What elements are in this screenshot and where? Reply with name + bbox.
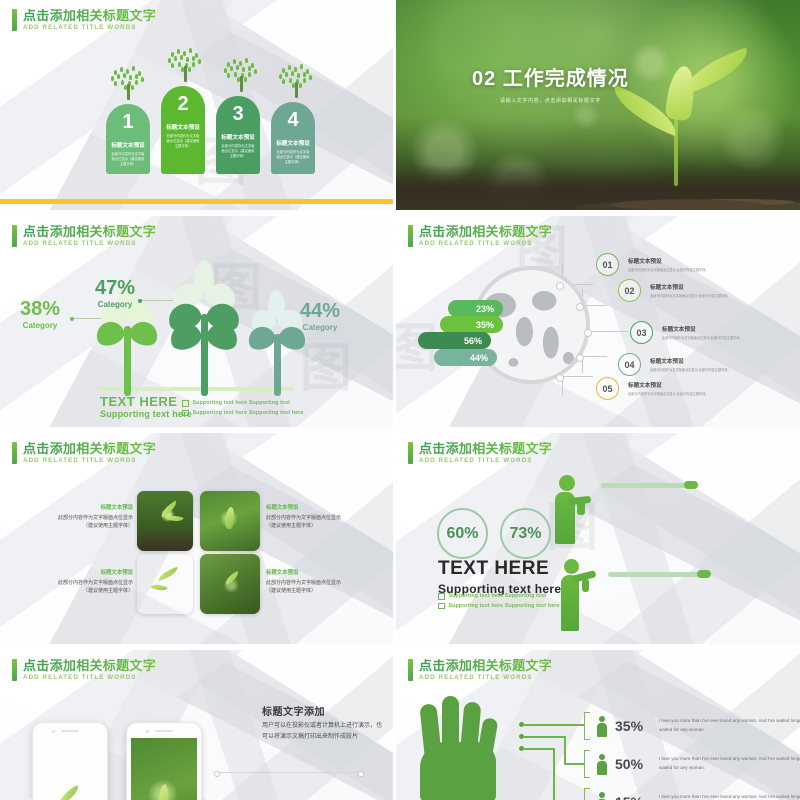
slide-6-subtitle: ADD RELATED TITLE WORDS — [419, 458, 552, 464]
photo-image — [137, 554, 193, 614]
item-number: 01 — [596, 253, 619, 276]
sprig-leaf — [223, 571, 241, 585]
slide-thumbnail-sheet: 图 点击添加相关标题文字 ADD RELATED TITLE WORDS — [0, 0, 800, 800]
numbered-card-1[interactable]: 1 标题文本预设 此部分内容作为文字版面点位显示（建议使用主题字体） — [106, 104, 150, 174]
slide-8-header: 点击添加相关标题文字 ADD RELATED TITLE WORDS — [408, 659, 552, 681]
slide-2-section-cover[interactable]: 02 工作完成情况 请输入文字内容，点击添加相关标题文字 — [396, 0, 800, 210]
link-line-2 — [524, 736, 566, 738]
globe-node-4 — [576, 354, 584, 362]
slide-5-header: 点击添加相关标题文字 ADD RELATED TITLE WORDS — [12, 442, 156, 464]
slide-4-header: 点击添加相关标题文字 ADD RELATED TITLE WORDS — [408, 225, 552, 247]
header-accent-bar — [12, 225, 17, 247]
link-line-2b — [564, 763, 584, 765]
photo-caption-4: 标题文本预设 此部分内容作为文字版面点位显示（建议使用主题字体） — [266, 568, 344, 595]
phone-speaker — [155, 730, 173, 732]
link-elbow-3 — [553, 748, 555, 800]
card-title: 标题文本预设 — [216, 133, 260, 141]
card-title: 标题文本预设 — [161, 123, 205, 131]
card-number: 3 — [216, 104, 260, 124]
slide-5-photo-grid[interactable]: 点击添加相关标题文字 ADD RELATED TITLE WORDS — [0, 433, 393, 644]
globe-node-1 — [556, 282, 564, 290]
item-number: 03 — [630, 321, 653, 344]
stat-value: 15% — [615, 794, 649, 800]
numbered-card-3[interactable]: 3 标题文本预设 此部分内容作为文字版面点位显示（建议使用主题字体） — [216, 96, 260, 174]
bracket-icon — [584, 788, 590, 800]
slide-5-title: 点击添加相关标题文字 — [23, 442, 156, 455]
person-body — [561, 575, 579, 631]
bar-56: 56% — [418, 332, 491, 349]
bracket-icon — [584, 712, 590, 740]
photo-image — [200, 491, 260, 551]
photo-thumb-2[interactable] — [200, 491, 260, 551]
item-title: 标题文本预设 — [662, 325, 743, 333]
tree-icon-3 — [219, 58, 263, 92]
connector-3 — [588, 331, 628, 332]
bullet-checkbox-icon — [438, 603, 445, 610]
sprig-leaf — [150, 581, 167, 594]
slide-7-subtitle: ADD RELATED TITLE WORDS — [23, 675, 156, 681]
bullet-list: Supporting text here Supporting text Sup… — [182, 400, 304, 419]
bar-23: 23% — [448, 300, 503, 317]
bullet-item: Supporting text here Supporting text her… — [182, 410, 304, 417]
text-here-heading: TEXT HERE — [100, 395, 192, 409]
numbered-card-2[interactable]: 2 标题文本预设 此部分内容作为文字版面点位显示（建议使用主题字体） — [161, 86, 205, 174]
stat-47: 47% Category — [95, 278, 135, 309]
caption-title: 标题文本预设 — [266, 503, 344, 511]
tree-trunk — [240, 76, 243, 92]
supporting-text: Supporting text here — [100, 409, 192, 419]
slide-1-header: 点击添加相关标题文字 ADD RELATED TITLE WORDS — [12, 9, 156, 31]
item-title: 标题文本预设 — [650, 357, 731, 365]
item-title: 标题文本预设 — [628, 381, 709, 389]
slide-8-hand-stats[interactable]: 点击添加相关标题文字 ADD RELATED TITLE WORDS 35% I… — [396, 650, 800, 800]
bullet-item: Supporting text here Supporting text — [182, 400, 304, 407]
spray-stream-1 — [601, 483, 691, 488]
screen-photo — [131, 738, 197, 800]
slide-3-header: 点击添加相关标题文字 ADD RELATED TITLE WORDS — [12, 225, 156, 247]
slide-4-subtitle: ADD RELATED TITLE WORDS — [419, 241, 552, 247]
slide-7-title: 点击添加相关标题文字 — [23, 659, 156, 672]
header-accent-bar — [12, 659, 17, 681]
stat-text: I love you more than I've ever loved any… — [659, 717, 800, 734]
slide-6-header: 点击添加相关标题文字 ADD RELATED TITLE WORDS — [408, 442, 552, 464]
caption-body: 此部分内容作为文字版面点位显示（建议使用主题字体） — [266, 579, 344, 595]
stat-text: I love you more than I've ever loved any… — [659, 755, 800, 772]
person-icon — [596, 754, 607, 775]
polygon-background — [0, 433, 393, 644]
globe-list-item-5[interactable]: 05 标题文本预设 此部分内容作为文字版面点位显示 此部分内容主题字体。 — [596, 377, 709, 400]
stat-row-2: 50% I love you more than I've ever loved… — [584, 750, 800, 778]
stat-category: Category — [20, 321, 60, 330]
slide-3-subtitle: ADD RELATED TITLE WORDS — [23, 241, 156, 247]
person-head — [564, 559, 579, 574]
link-line-1 — [524, 724, 584, 726]
bullet-checkbox-icon — [438, 593, 445, 600]
photo-thumb-1[interactable] — [137, 491, 193, 551]
card-body: 此部分内容作为文字版面点位显示（建议使用主题字体） — [111, 152, 145, 166]
phone-screen — [37, 738, 103, 800]
bar-44: 44% — [434, 349, 497, 366]
stat-category: Category — [95, 300, 135, 309]
footer-text-block: TEXT HERE Supporting text here — [100, 395, 192, 419]
bullet-item: Supporting text here Supporting text — [438, 593, 560, 600]
person-with-sprayer-1 — [551, 475, 597, 545]
stat-text: I love you more than I've ever loved any… — [659, 793, 800, 800]
photo-thumb-3[interactable] — [137, 554, 193, 614]
card-title: 标题文本预设 — [271, 139, 315, 147]
tree-icon-4 — [274, 64, 318, 98]
item-number: 02 — [618, 279, 641, 302]
photo-caption-2: 标题文本预设 此部分内容作为文字版面点位显示（建议使用主题字体） — [266, 503, 344, 530]
sprayer-handle — [582, 579, 589, 592]
phone-speaker — [61, 730, 79, 732]
stat-44: 44% Category — [300, 301, 340, 332]
ring-stat-60[interactable]: 60% — [437, 508, 488, 559]
item-number: 05 — [596, 377, 619, 400]
caption-title: 标题文本预设 — [266, 568, 344, 576]
sprig-leaf — [154, 784, 170, 800]
photo-caption-1: 标题文本预设 此部分内容作为文字版面点位显示（建议使用主题字体） — [55, 503, 133, 530]
photo-caption-3: 标题文本预设 此部分内容作为文字版面点位显示（建议使用主题字体） — [55, 568, 133, 595]
caption-body: 此部分内容作为文字版面点位显示（建议使用主题字体） — [55, 579, 133, 595]
header-accent-bar — [12, 442, 17, 464]
card-number: 4 — [271, 110, 315, 130]
slide-7-phone-mockups[interactable]: 点击添加相关标题文字 ADD RELATED TITLE WORDS — [0, 650, 393, 800]
hand-illustration — [406, 696, 522, 800]
header-accent-bar — [408, 225, 413, 247]
section-title-block: 02 工作完成情况 请输入文字内容，点击添加相关标题文字 — [472, 62, 629, 104]
ring-stat-73[interactable]: 73% — [500, 508, 551, 559]
person-with-sprayer-2 — [558, 559, 604, 631]
stat-row-1: 35% I love you more than I've ever loved… — [584, 712, 800, 740]
photo-image — [200, 554, 260, 614]
stat-category: Category — [300, 323, 340, 332]
numbered-card-group: 1 标题文本预设 此部分内容作为文字版面点位显示（建议使用主题字体） 2 标题文 — [98, 44, 328, 174]
bar-35: 35% — [440, 316, 503, 333]
globe-list-item-1[interactable]: 01 标题文本预设 此部分内容作为文字版面点位显示 此部分内容主题字体。 — [596, 253, 709, 276]
slide-7-heading: 标题文字添加 — [262, 703, 387, 718]
slide-1-subtitle: ADD RELATED TITLE WORDS — [23, 25, 156, 31]
person-icon — [596, 792, 607, 800]
slide-4-title: 点击添加相关标题文字 — [419, 225, 552, 238]
sprig-leaf — [225, 507, 235, 530]
phone-mockup-2[interactable] — [126, 722, 202, 800]
phone-camera — [52, 730, 55, 733]
yellow-divider-bar — [0, 199, 393, 204]
link-elbow-2 — [564, 736, 566, 764]
section-title: 02 工作完成情况 — [472, 62, 629, 91]
globe-list-item-3[interactable]: 03 标题文本预设 此部分内容作为文字版面点位显示 此部分内容主题字体。 — [630, 321, 743, 344]
item-body: 此部分内容作为文字版面点位显示 此部分内容主题字体。 — [662, 335, 743, 340]
phone-mockup-1[interactable] — [32, 722, 108, 800]
stat-value: 47% — [95, 278, 135, 298]
globe-node-3 — [584, 329, 592, 337]
slide-1-title: 点击添加相关标题文字 — [23, 9, 156, 22]
slide-8-title: 点击添加相关标题文字 — [419, 659, 552, 672]
slide-7-header: 点击添加相关标题文字 ADD RELATED TITLE WORDS — [12, 659, 156, 681]
wheat-stalk-3[interactable] — [248, 290, 306, 396]
link-line-3 — [524, 748, 554, 750]
phone-camera — [146, 730, 149, 733]
caption-body: 此部分内容作为文字版面点位显示（建议使用主题字体） — [266, 514, 344, 530]
slide-3-wheat-percentages[interactable]: 图 图 点击添加相关标题文字 ADD RELATED TITLE WORDS — [0, 216, 393, 427]
item-body: 此部分内容作为文字版面点位显示 此部分内容主题字体。 — [650, 367, 731, 372]
tree-icon-1 — [106, 66, 150, 100]
item-title: 标题文本预设 — [650, 283, 731, 291]
person-icon — [596, 716, 607, 737]
bullet-checkbox-icon — [182, 410, 189, 417]
caption-title: 标题文本预设 — [55, 503, 133, 511]
spray-nozzle-2 — [697, 570, 711, 578]
stat-row-3: 15% I love you more than I've ever loved… — [584, 788, 800, 800]
slide-3-title: 点击添加相关标题文字 — [23, 225, 156, 238]
spray-stream-2 — [608, 572, 704, 577]
slide-5-subtitle: ADD RELATED TITLE WORDS — [23, 458, 156, 464]
bullet-label: Supporting text here Supporting text her… — [193, 410, 304, 416]
slide-7-body: 用户可以在投影仪或者计算机上进行演示，也可以将演示文稿打印出来制作成胶片 — [262, 721, 387, 742]
divider-rule — [214, 772, 364, 773]
sprout-leaf-center — [664, 64, 697, 121]
sprig-leaf — [166, 512, 183, 524]
sprig-leaf — [156, 567, 179, 581]
stat-value: 38% — [20, 299, 60, 319]
section-subtitle: 请输入文字内容，点击添加相关标题文字 — [472, 97, 629, 104]
bullet-item: Supporting text here Supporting text her… — [438, 603, 560, 610]
screen-photo — [37, 738, 103, 800]
phone-screen — [131, 738, 197, 800]
wheat-stalk-2[interactable] — [168, 260, 240, 396]
sprout-stem — [674, 116, 678, 186]
card-number: 1 — [106, 112, 150, 132]
bullet-label: Supporting text here Supporting text — [193, 400, 291, 406]
item-number: 04 — [618, 353, 641, 376]
photo-image — [137, 491, 193, 551]
caption-title: 标题文本预设 — [55, 568, 133, 576]
photo-thumb-4[interactable] — [200, 554, 260, 614]
caption-body: 此部分内容作为文字版面点位显示（建议使用主题字体） — [55, 514, 133, 530]
slide-6-figures-rings[interactable]: 图 点击添加相关标题文字 ADD RELATED TITLE WORDS 60%… — [396, 433, 800, 644]
tree-trunk — [295, 82, 298, 98]
stat-value: 50% — [615, 756, 649, 772]
slide-8-subtitle: ADD RELATED TITLE WORDS — [419, 675, 552, 681]
numbered-card-4[interactable]: 4 标题文本预设 此部分内容作为文字版面点位显示（建议使用主题字体） — [271, 102, 315, 174]
sprig-leaf — [56, 785, 82, 800]
globe-node-2 — [576, 303, 584, 311]
item-body: 此部分内容作为文字版面点位显示 此部分内容主题字体。 — [628, 391, 709, 396]
stat-value: 44% — [300, 301, 340, 321]
globe-list-item-4[interactable]: 04 标题文本预设 此部分内容作为文字版面点位显示 此部分内容主题字体。 — [618, 353, 731, 376]
section-title-text: 工作完成情况 — [503, 68, 629, 90]
bullet-label: Supporting text here Supporting text — [449, 593, 547, 599]
bullet-list: Supporting text here Supporting text Sup… — [438, 593, 560, 612]
item-body: 此部分内容作为文字版面点位显示 此部分内容主题字体。 — [628, 267, 709, 272]
header-accent-bar — [12, 9, 17, 31]
card-number: 2 — [161, 94, 205, 114]
card-body: 此部分内容作为文字版面点位显示（建议使用主题字体） — [276, 150, 310, 164]
stat-38: 38% Category — [20, 299, 60, 330]
slide-4-globe-list[interactable]: 图 图 点击添加相关标题文字 ADD RELATED TITLE WORDS 2… — [396, 216, 800, 427]
spray-nozzle-1 — [684, 481, 698, 489]
bullet-checkbox-icon — [182, 400, 189, 407]
item-title: 标题文本预设 — [628, 257, 709, 265]
tree-trunk — [127, 84, 130, 100]
tree-icon-2 — [163, 48, 207, 82]
link-dot-2 — [519, 734, 524, 739]
slide-6-title: 点击添加相关标题文字 — [419, 442, 552, 455]
stalk-stem — [201, 314, 208, 396]
card-body: 此部分内容作为文字版面点位显示（建议使用主题字体） — [221, 144, 255, 158]
slide-7-text-block: 标题文字添加 用户可以在投影仪或者计算机上进行演示，也可以将演示文稿打印出来制作… — [262, 703, 387, 742]
globe-node-5 — [556, 374, 564, 382]
person-head — [559, 475, 575, 491]
globe-list-item-2[interactable]: 02 标题文本预设 此部分内容作为文字版面点位显示 此部分内容主题字体。 — [618, 279, 731, 302]
card-title: 标题文本预设 — [106, 141, 150, 149]
bullet-label: Supporting text here Supporting text her… — [449, 603, 560, 609]
sprig-leaf — [158, 501, 179, 518]
connector-5 — [562, 376, 593, 395]
link-dot-1 — [519, 722, 524, 727]
card-body: 此部分内容作为文字版面点位显示（建议使用主题字体） — [166, 134, 200, 148]
item-body: 此部分内容作为文字版面点位显示 此部分内容主题字体。 — [650, 293, 731, 298]
header-accent-bar — [408, 442, 413, 464]
sprayer-handle — [577, 501, 585, 515]
slide-6-text-block: TEXT HERE Supporting text here — [438, 559, 561, 596]
header-accent-bar — [408, 659, 413, 681]
connector-4 — [582, 356, 607, 373]
link-dot-3 — [519, 746, 524, 751]
section-number: 02 — [472, 68, 496, 90]
stat-value: 35% — [615, 718, 649, 734]
stalk-stem — [274, 334, 281, 396]
text-here-heading: TEXT HERE — [438, 559, 561, 578]
tree-trunk — [184, 66, 187, 82]
bracket-icon — [584, 750, 590, 778]
slide-1-numbered-trees[interactable]: 图 点击添加相关标题文字 ADD RELATED TITLE WORDS — [0, 0, 393, 210]
